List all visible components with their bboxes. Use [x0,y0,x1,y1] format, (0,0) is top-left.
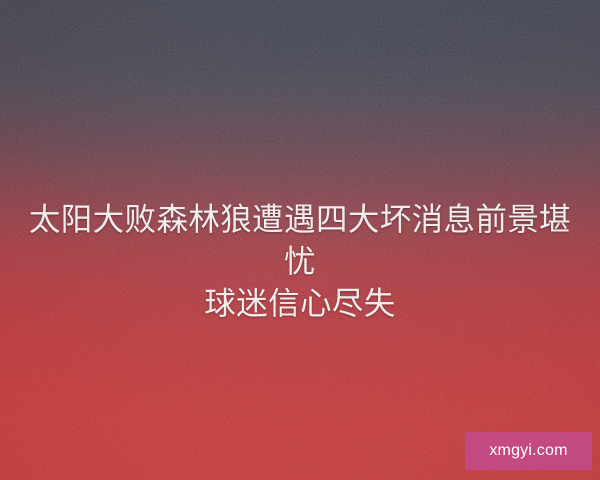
headline-text: 太阳大败森林狼遭遇四大坏消息前景堪忧 球迷信心尽失 [0,198,600,324]
thumbnail-canvas: 太阳大败森林狼遭遇四大坏消息前景堪忧 球迷信心尽失 xmgyi.com [0,0,600,480]
watermark-label: xmgyi.com [489,443,567,459]
watermark-badge: xmgyi.com [465,432,592,470]
